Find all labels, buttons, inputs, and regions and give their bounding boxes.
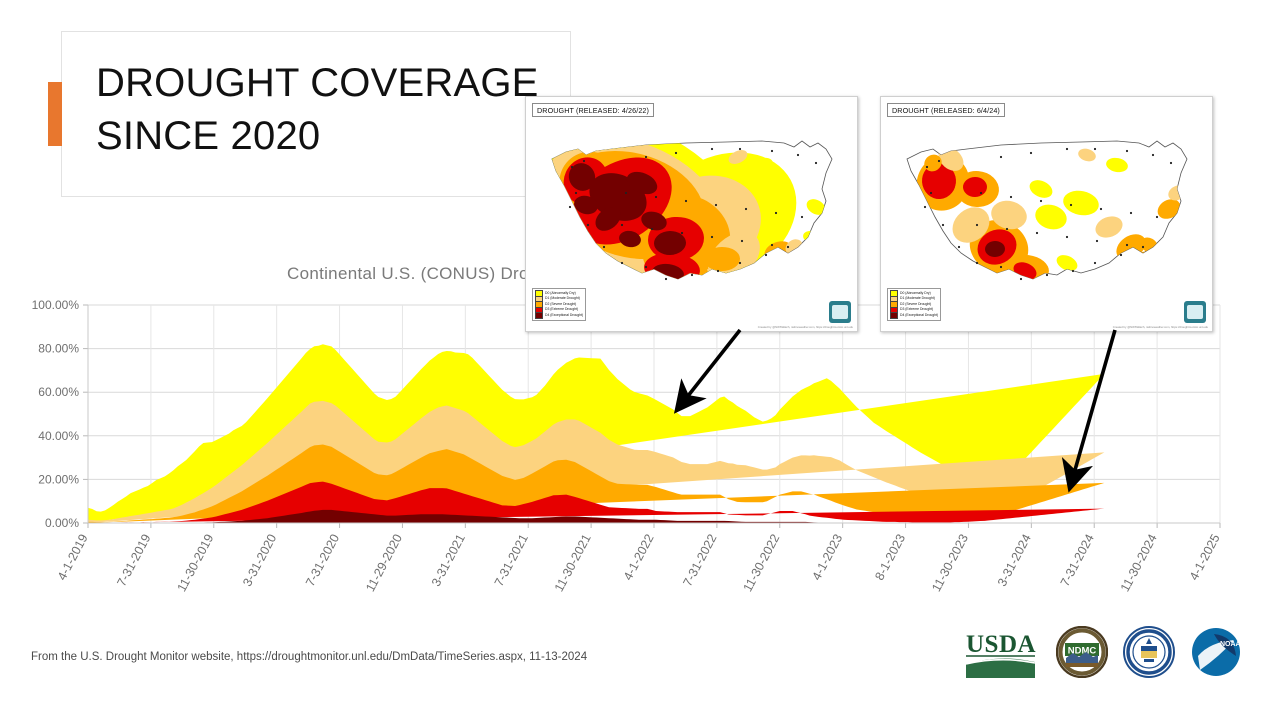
- city-marker: [1126, 150, 1128, 152]
- drought-map-2022[interactable]: DROUGHT (RELEASED: 4/26/22) D0 (Abnormal…: [525, 96, 858, 332]
- city-marker: [771, 244, 773, 246]
- map-2022-caption: DROUGHT (RELEASED: 4/26/22): [532, 103, 654, 117]
- y-axis-tick-label: 100.00%: [32, 298, 80, 312]
- y-axis-tick-label: 40.00%: [38, 429, 79, 443]
- x-axis-tick-label: 8-1-2023: [872, 532, 908, 583]
- city-marker: [1142, 246, 1144, 248]
- svg-text:USDA: USDA: [966, 631, 1036, 658]
- city-marker: [625, 192, 627, 194]
- city-marker: [765, 254, 767, 256]
- city-marker: [775, 212, 777, 214]
- noaa-logo: NOAA: [1190, 626, 1242, 678]
- ndmc-logo: NDMC: [1056, 626, 1108, 678]
- y-axis-tick-label: 20.00%: [38, 472, 79, 486]
- city-marker: [1152, 154, 1154, 156]
- city-marker: [1094, 148, 1096, 150]
- x-axis-tick-label: 3-31-2020: [240, 532, 279, 589]
- x-axis-tick-label: 11-30-2019: [174, 532, 216, 594]
- city-marker: [691, 274, 693, 276]
- agency-logos: USDA NDMC: [963, 626, 1223, 684]
- city-marker: [711, 236, 713, 238]
- city-marker: [976, 224, 978, 226]
- city-marker: [645, 156, 647, 158]
- x-axis-tick-label: 4-1-2019: [55, 532, 91, 583]
- x-axis-tick-label: 3-31-2021: [429, 532, 468, 589]
- city-marker: [815, 162, 817, 164]
- city-marker: [715, 204, 717, 206]
- city-marker: [1126, 244, 1128, 246]
- map-2024-agency-badge: [1184, 301, 1206, 323]
- city-marker: [569, 206, 571, 208]
- map-2024-caption: DROUGHT (RELEASED: 6/4/24): [887, 103, 1005, 117]
- source-footnote: From the U.S. Drought Monitor website, h…: [31, 651, 587, 663]
- y-axis-tick-label: 80.00%: [38, 342, 79, 356]
- city-marker: [1020, 278, 1022, 280]
- city-marker: [645, 266, 647, 268]
- city-marker: [1040, 200, 1042, 202]
- city-marker: [745, 208, 747, 210]
- y-axis-tick-label: 60.00%: [38, 385, 79, 399]
- x-axis-tick-label: 7-31-2020: [303, 532, 342, 589]
- map-2024-credit: Created by @NWSWatch, nwbreweather.com, …: [1113, 325, 1208, 329]
- x-axis-tick-label: 7-31-2021: [492, 532, 531, 589]
- map-2022-agency-badge: [829, 301, 851, 323]
- city-marker: [651, 228, 653, 230]
- city-marker: [938, 160, 940, 162]
- y-axis-tick-label: 0.00%: [45, 516, 79, 530]
- city-marker: [1036, 232, 1038, 234]
- x-axis-tick-label: 7-31-2024: [1058, 532, 1097, 589]
- x-axis-tick-label: 4-1-2022: [621, 532, 657, 583]
- x-axis-tick-label: 7-31-2022: [680, 532, 719, 589]
- legend-label-d4: D4 (Exceptional Drought): [900, 313, 938, 319]
- city-marker: [583, 160, 585, 162]
- city-marker: [621, 262, 623, 264]
- x-axis-tick-label: 7-31-2019: [114, 532, 153, 589]
- legend-row-d4: D4 (Exceptional Drought): [890, 313, 938, 319]
- city-marker: [1010, 196, 1012, 198]
- city-marker: [1100, 208, 1102, 210]
- city-marker: [665, 278, 667, 280]
- city-marker: [930, 192, 932, 194]
- city-marker: [675, 152, 677, 154]
- city-marker: [741, 240, 743, 242]
- city-marker: [1096, 240, 1098, 242]
- city-marker: [801, 216, 803, 218]
- city-marker: [1030, 152, 1032, 154]
- city-marker: [1130, 212, 1132, 214]
- city-marker: [926, 166, 928, 168]
- city-marker: [1072, 270, 1074, 272]
- legend-swatch-d4: [890, 312, 898, 319]
- map-2024-legend: D0 (Abnormally Dry)D1 (Moderate Drought)…: [887, 288, 941, 321]
- city-marker: [924, 206, 926, 208]
- city-marker: [1006, 228, 1008, 230]
- city-marker: [958, 246, 960, 248]
- city-marker: [1156, 216, 1158, 218]
- city-marker: [603, 246, 605, 248]
- city-marker: [1000, 266, 1002, 268]
- city-marker: [1000, 156, 1002, 158]
- city-marker: [771, 150, 773, 152]
- x-axis-tick-label: 4-1-2025: [1187, 532, 1223, 583]
- city-marker: [942, 224, 944, 226]
- city-marker: [655, 196, 657, 198]
- x-axis-tick-label: 11-30-2024: [1118, 532, 1160, 594]
- city-marker: [787, 246, 789, 248]
- usda-logo: USDA: [963, 626, 1041, 680]
- city-marker: [739, 148, 741, 150]
- city-marker: [587, 224, 589, 226]
- svg-text:NOAA: NOAA: [1220, 641, 1241, 648]
- map-2022-credit: Created by @NWSWatch, nwbreweather.com, …: [758, 325, 853, 329]
- city-marker: [1066, 236, 1068, 238]
- legend-swatch-d4: [535, 312, 543, 319]
- city-marker: [685, 200, 687, 202]
- legend-row-d4: D4 (Exceptional Drought): [535, 313, 583, 319]
- city-marker: [571, 166, 573, 168]
- x-axis-tick-label: 11-30-2023: [929, 532, 971, 594]
- city-marker: [1120, 254, 1122, 256]
- city-marker: [797, 154, 799, 156]
- city-marker: [717, 270, 719, 272]
- x-axis-tick-label: 4-1-2023: [809, 532, 845, 583]
- x-axis-tick-label: 11-30-2022: [740, 532, 782, 594]
- usdc-seal-logo: [1123, 626, 1175, 678]
- city-marker: [575, 192, 577, 194]
- city-marker: [1094, 262, 1096, 264]
- city-marker: [1070, 204, 1072, 206]
- city-marker: [711, 148, 713, 150]
- city-marker: [739, 262, 741, 264]
- x-axis-tick-label: 11-29-2020: [363, 532, 405, 594]
- city-marker: [1046, 274, 1048, 276]
- city-marker: [1170, 162, 1172, 164]
- legend-label-d4: D4 (Exceptional Drought): [545, 313, 583, 319]
- city-marker: [980, 192, 982, 194]
- city-marker: [1066, 148, 1068, 150]
- x-axis-tick-label: 11-30-2021: [552, 532, 594, 594]
- map-2022-legend: D0 (Abnormally Dry)D1 (Moderate Drought)…: [532, 288, 586, 321]
- x-axis-tick-label: 3-31-2024: [995, 532, 1034, 589]
- city-marker: [621, 224, 623, 226]
- city-marker: [681, 232, 683, 234]
- drought-map-2024[interactable]: DROUGHT (RELEASED: 6/4/24) D0 (Abnormall…: [880, 96, 1213, 332]
- city-marker: [976, 262, 978, 264]
- slide-canvas: DROUGHT COVERAGE SINCE 2020 Continental …: [0, 0, 1280, 720]
